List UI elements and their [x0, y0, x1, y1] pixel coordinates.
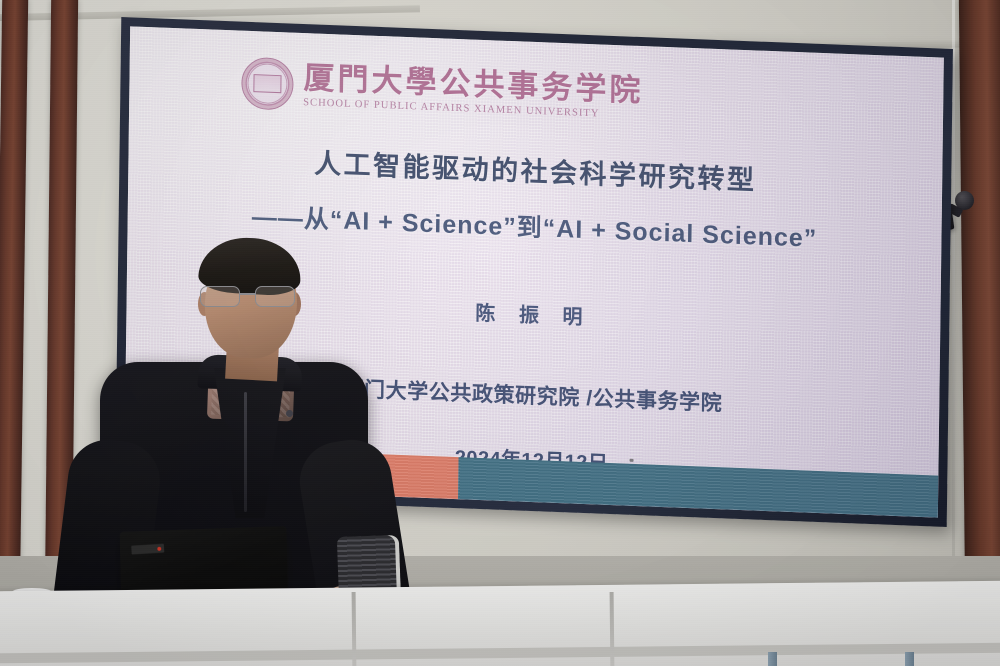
seal-inner-ring	[247, 63, 288, 105]
university-seal-icon	[241, 57, 294, 111]
glasses-icon	[200, 286, 304, 308]
thinkpad-logo-icon	[131, 544, 164, 555]
logo-text-block: 厦門大學公共事务学院 SCHOOL OF PUBLIC AFFAIRS XIAM…	[303, 62, 643, 122]
presenter-lapel-pin	[286, 410, 293, 417]
dust-speck	[629, 459, 633, 462]
desk-leg	[768, 652, 777, 666]
glasses-lens-right	[255, 286, 295, 307]
institution-logo: 厦門大學公共事务学院 SCHOOL OF PUBLIC AFFAIRS XIAM…	[241, 57, 644, 124]
glasses-lens-left	[200, 286, 240, 307]
wood-trim-strip-3	[959, 0, 1000, 600]
wall-panel-seam	[952, 0, 955, 600]
glasses-bridge	[240, 293, 255, 295]
desk-seam	[610, 592, 615, 666]
slide-title: 人工智能驱动的社会科学研究转型	[128, 134, 942, 204]
lecture-room-scene: 厦門大學公共事务学院 SCHOOL OF PUBLIC AFFAIRS XIAM…	[0, 0, 1000, 666]
desk-leg	[905, 652, 914, 666]
presenter-jacket-zipper	[244, 392, 247, 512]
desk-seam	[352, 592, 357, 666]
thinkpad-red-dot-icon	[157, 546, 161, 550]
